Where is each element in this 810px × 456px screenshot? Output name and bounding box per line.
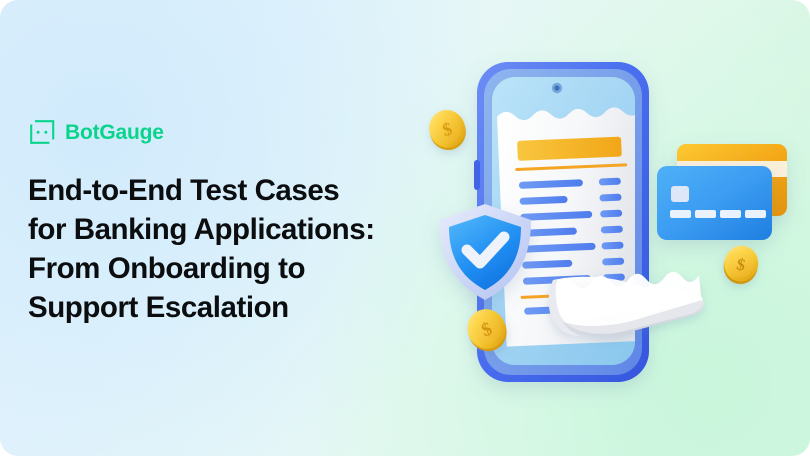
brand-logo: BotGauge xyxy=(28,118,428,146)
illustration: $ $ $ xyxy=(405,44,810,414)
card-chip-icon xyxy=(671,186,689,202)
phone-camera-dot xyxy=(552,83,562,93)
marketing-banner: BotGauge End-to-End Test Cases for Banki… xyxy=(0,0,810,456)
page-title: End-to-End Test Cases for Banking Applic… xyxy=(28,172,428,328)
illustration-svg: $ $ $ xyxy=(405,44,810,414)
text-column: BotGauge End-to-End Test Cases for Banki… xyxy=(28,118,428,328)
phone-side-button[interactable] xyxy=(474,160,480,190)
botgauge-frame-icon xyxy=(28,118,56,146)
coin-top-left: $ xyxy=(425,106,471,155)
brand-name: BotGauge xyxy=(65,122,164,143)
coin-right: $ xyxy=(720,243,761,288)
credit-card-front xyxy=(657,166,772,240)
